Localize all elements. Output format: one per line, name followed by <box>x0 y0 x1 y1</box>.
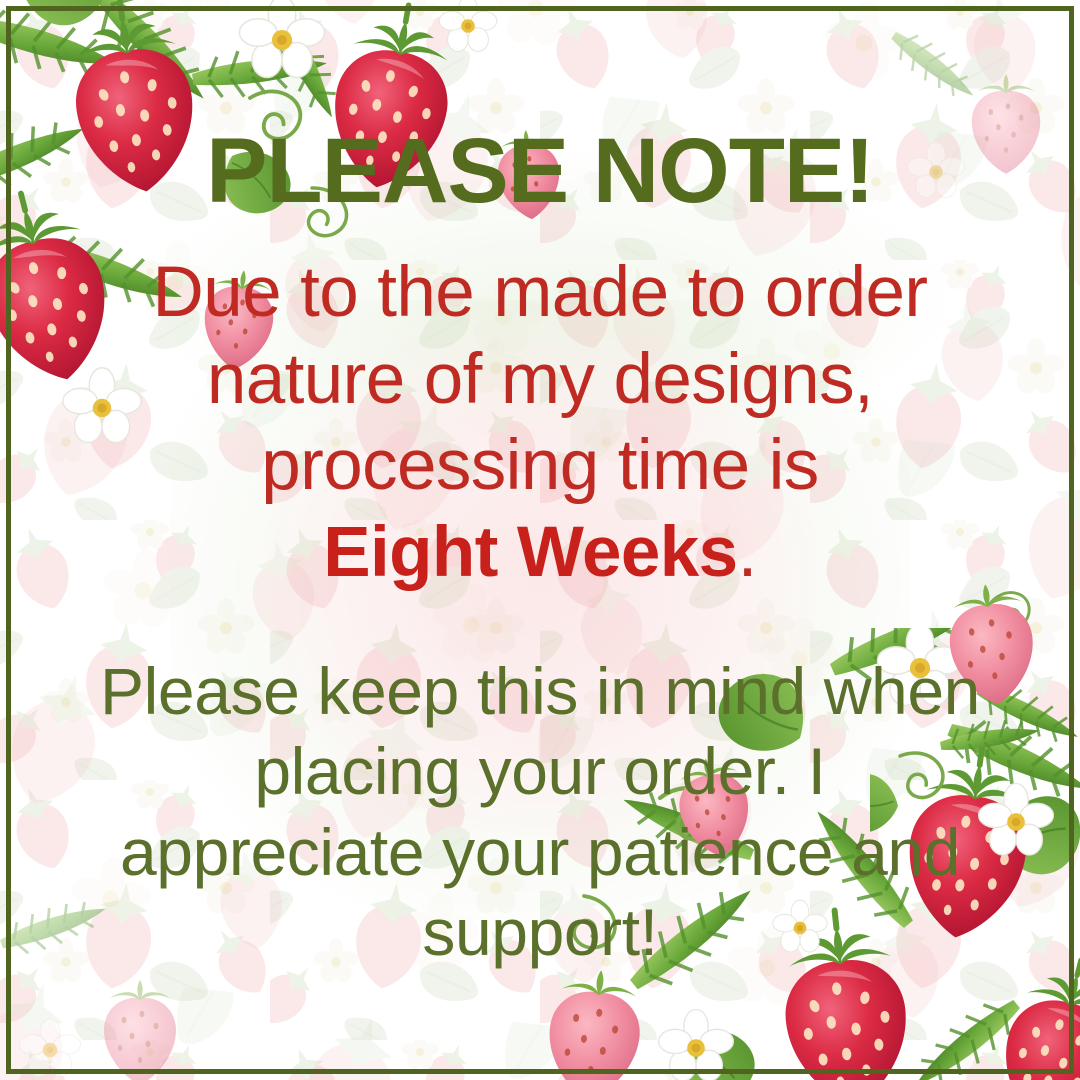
request-paragraph: Please keep this in mind when placing yo… <box>60 651 1020 973</box>
processing-time-value: Eight Weeks <box>323 513 737 592</box>
page-title: PLEASE NOTE! <box>206 126 874 216</box>
notice-line-3: processing time is <box>75 423 1005 510</box>
notice-emphasis-period: . <box>738 513 757 592</box>
request-line-1: Please keep this in mind when <box>60 651 1020 732</box>
request-line-4: support! <box>60 892 1020 973</box>
request-line-2: placing your order. I <box>60 731 1020 812</box>
card-content: PLEASE NOTE! Due to the made to order na… <box>0 0 1080 1080</box>
notice-line-emphasis: Eight Weeks. <box>75 510 1005 597</box>
announcement-card: PLEASE NOTE! Due to the made to order na… <box>0 0 1080 1080</box>
request-line-3: appreciate your patience and <box>60 812 1020 893</box>
notice-line-2: nature of my designs, <box>75 337 1005 424</box>
notice-line-1: Due to the made to order <box>75 250 1005 337</box>
processing-notice-paragraph: Due to the made to order nature of my de… <box>75 250 1005 596</box>
